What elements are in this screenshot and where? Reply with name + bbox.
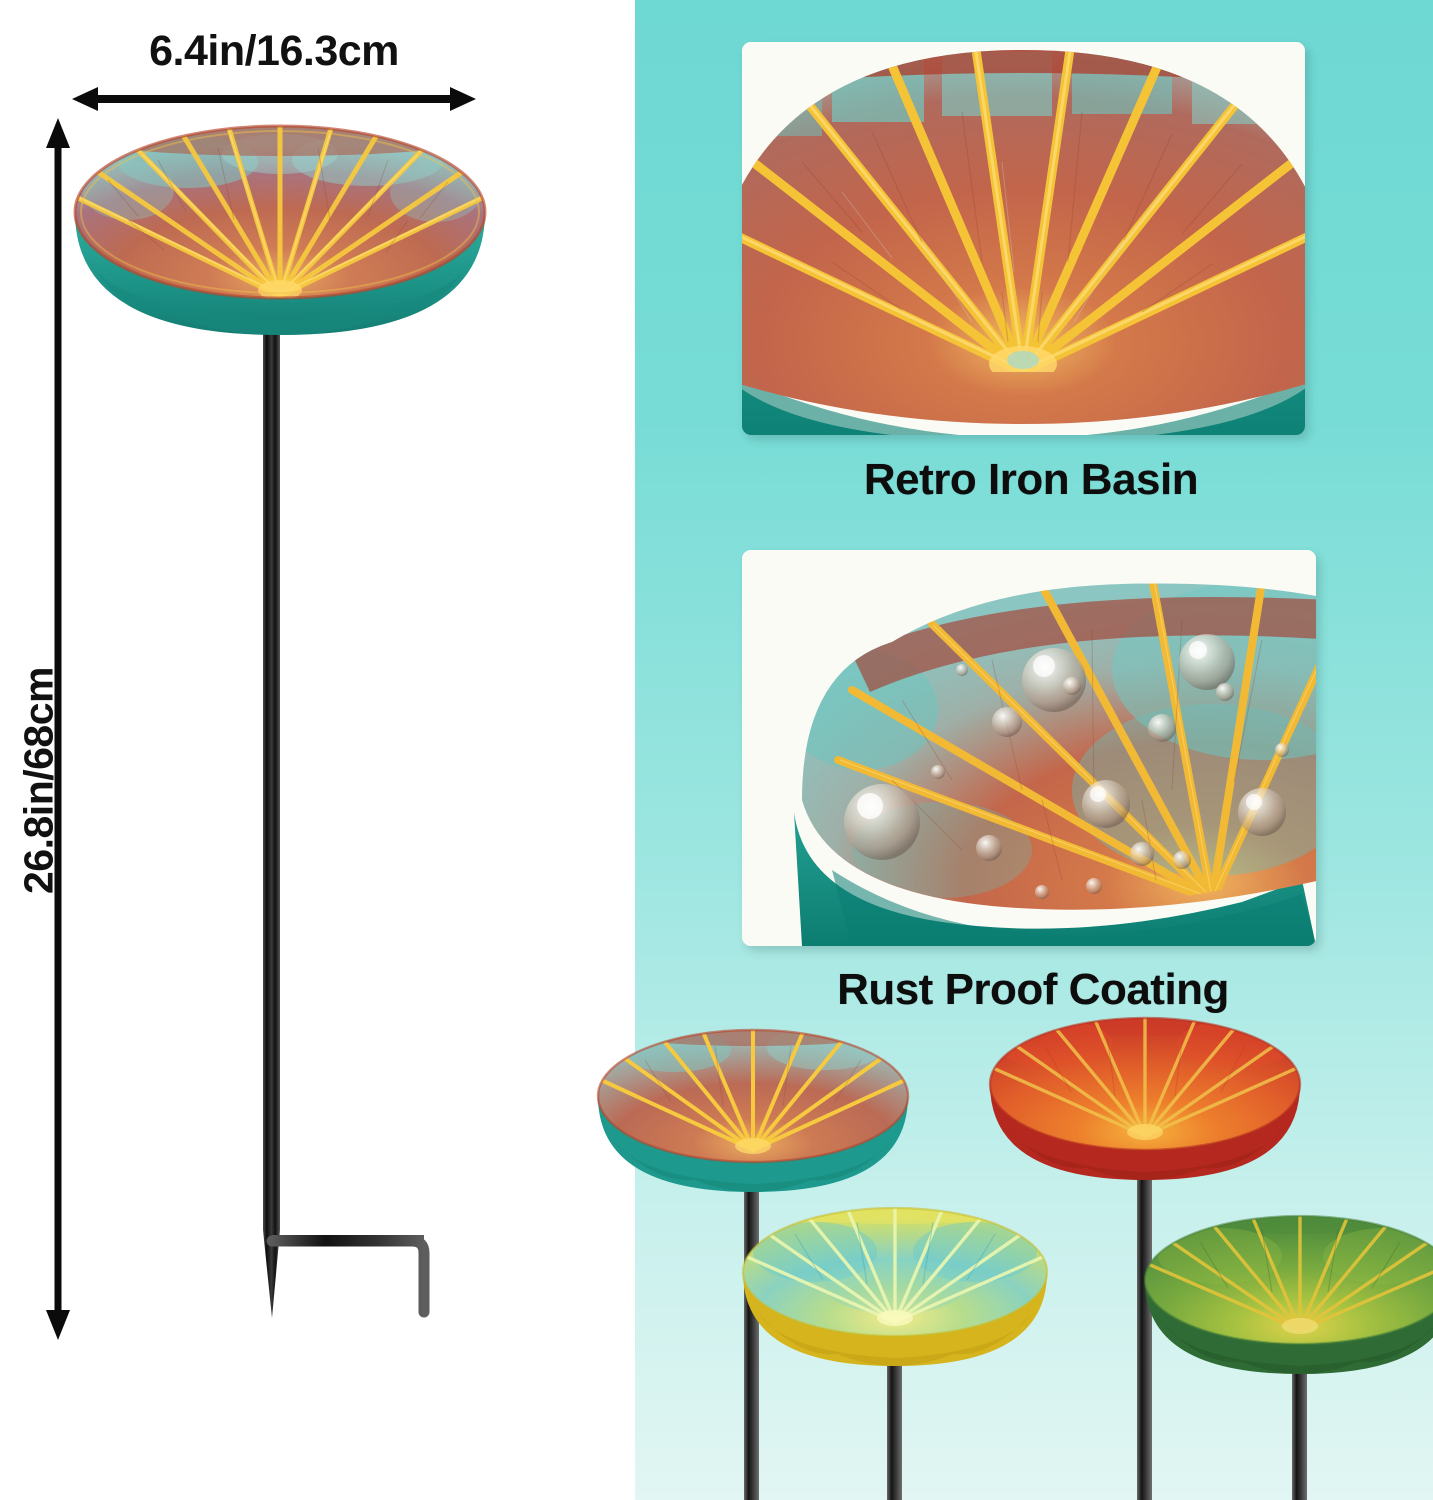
stake-rod-icon (60, 300, 500, 1350)
water-droplets-image (742, 550, 1316, 946)
double-arrow-horizontal-icon (72, 84, 476, 114)
bowl-rust-teal-icon (68, 120, 492, 345)
caption-retro-iron-basin: Retro Iron Basin (675, 458, 1387, 502)
variant-green (1100, 1200, 1433, 1500)
variant-yellow-teal (695, 1190, 1095, 1500)
infographic-canvas: 6.4in/16.3cm 26.8in/68cm (0, 0, 1433, 1500)
bowl-closeup-image (742, 42, 1305, 435)
feature-card-retro-iron-basin (742, 42, 1305, 435)
product-birdbath-stake (60, 120, 500, 1350)
feature-card-rust-proof-coating (742, 550, 1316, 946)
right-feature-panel: Retro Iron Basin (635, 0, 1433, 1500)
width-dimension-label: 6.4in/16.3cm (78, 30, 470, 73)
